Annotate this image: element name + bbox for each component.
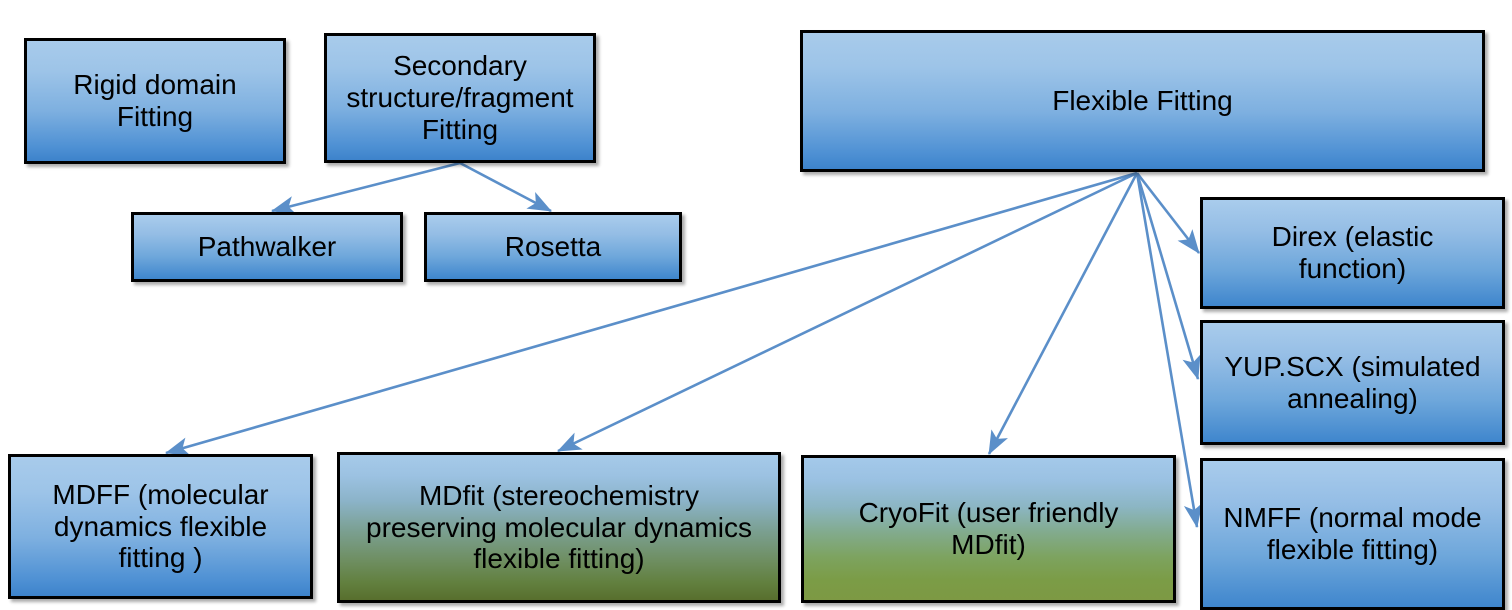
edge-secondary-to-pathwalker — [272, 163, 460, 211]
node-label-rosetta: Rosetta — [435, 231, 671, 263]
node-label-flexible-fitting: Flexible Fitting — [811, 85, 1474, 117]
node-label-direx: Direx (elasticfunction) — [1211, 221, 1494, 285]
node-label-cryofit: CryoFit (user friendlyMDfit) — [812, 497, 1165, 561]
node-label-nmff: NMFF (normal modeflexible fitting) — [1211, 502, 1494, 566]
node-direx[interactable]: Direx (elasticfunction) — [1200, 197, 1505, 309]
node-label-pathwalker: Pathwalker — [142, 231, 392, 263]
node-nmff[interactable]: NMFF (normal modeflexible fitting) — [1200, 458, 1505, 610]
node-yup-scx[interactable]: YUP.SCX (simulatedannealing) — [1200, 320, 1505, 445]
node-rosetta[interactable]: Rosetta — [424, 212, 682, 282]
node-label-secondary-structure-fitting: Secondarystructure/fragmentFitting — [335, 50, 585, 146]
node-label-yup-scx: YUP.SCX (simulatedannealing) — [1211, 351, 1494, 415]
node-label-rigid-domain-fitting: Rigid domainFitting — [35, 69, 275, 133]
node-secondary-structure-fitting[interactable]: Secondarystructure/fragmentFitting — [324, 33, 596, 163]
node-pathwalker[interactable]: Pathwalker — [131, 212, 403, 282]
edge-secondary-to-rosetta — [460, 163, 551, 211]
diagram-canvas: Rigid domainFittingSecondarystructure/fr… — [0, 0, 1512, 610]
node-mdfit[interactable]: MDfit (stereochemistrypreserving molecul… — [337, 452, 781, 603]
node-label-mdff: MDFF (moleculardynamics flexiblefitting … — [19, 479, 302, 575]
node-label-mdfit: MDfit (stereochemistrypreserving molecul… — [348, 480, 770, 576]
edge-flexible-to-cryofit — [989, 173, 1137, 454]
node-rigid-domain-fitting[interactable]: Rigid domainFitting — [24, 38, 286, 164]
node-mdff[interactable]: MDFF (moleculardynamics flexiblefitting … — [8, 454, 313, 599]
edge-flexible-to-direx — [1137, 173, 1199, 253]
node-flexible-fitting[interactable]: Flexible Fitting — [800, 30, 1485, 172]
node-cryofit[interactable]: CryoFit (user friendlyMDfit) — [801, 455, 1176, 603]
edge-flexible-to-yupscx — [1137, 173, 1198, 379]
